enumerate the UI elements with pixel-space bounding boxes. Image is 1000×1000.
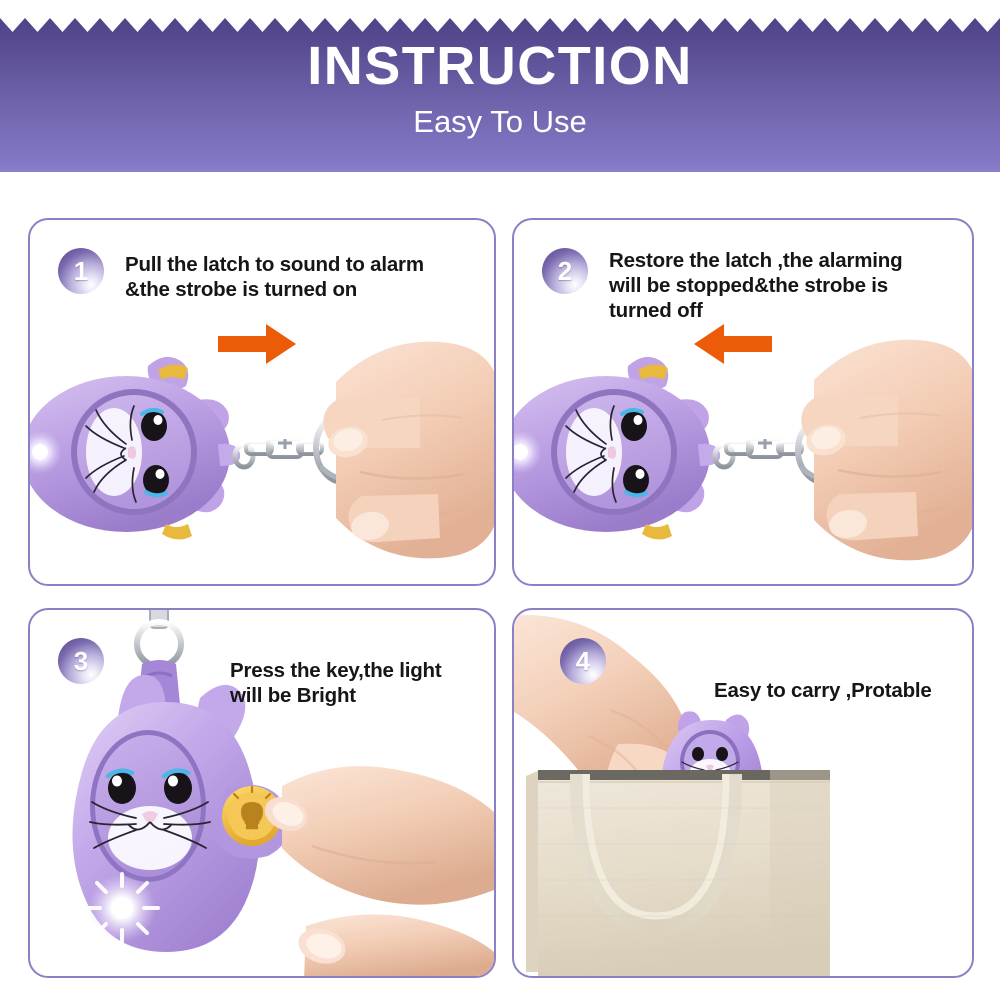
caption-line: Restore the latch ,the alarming — [609, 248, 959, 273]
caption-line: Press the key,the light — [230, 658, 480, 683]
arrow-left-icon — [694, 324, 772, 369]
caption-line: Pull the latch to sound to alarm — [125, 252, 475, 277]
page-subtitle: Easy To Use — [0, 103, 1000, 141]
caption-line: will be stopped&the strobe is — [609, 273, 959, 298]
hand-graphic — [260, 766, 494, 905]
caption-line: &the strobe is turned on — [125, 277, 475, 302]
step-caption-3: Press the key,the light will be Bright — [230, 658, 480, 708]
caption-line: Easy to carry ,Protable — [714, 678, 974, 703]
instruction-panel-1: 1 Pull the latch to sound to alarm &the … — [28, 218, 496, 586]
arrow-right-icon — [218, 324, 296, 369]
header-zigzag-edge-icon — [0, 0, 1000, 36]
step-number-badge-2: 2 — [542, 248, 588, 294]
step-caption-2: Restore the latch ,the alarming will be … — [609, 248, 959, 323]
caption-line: turned off — [609, 298, 959, 323]
hand-graphic — [323, 342, 494, 559]
hand-graphic — [801, 340, 972, 561]
step-number-badge-3: 3 — [58, 638, 104, 684]
instruction-panel-4: 4 Easy to carry ,Protable — [512, 608, 974, 978]
caption-line: will be Bright — [230, 683, 480, 708]
step-caption-4: Easy to carry ,Protable — [714, 678, 974, 703]
instruction-panel-3: 3 Press the key,the light will be Bright — [28, 608, 496, 978]
page-header: INSTRUCTION Easy To Use — [0, 0, 1000, 172]
hand-graphic-lower — [294, 914, 494, 976]
instruction-panel-2: 2 Restore the latch ,the alarming will b… — [512, 218, 974, 586]
step-number-badge-4: 4 — [560, 638, 606, 684]
page-title: INSTRUCTION — [0, 36, 1000, 96]
step-number-badge-1: 1 — [58, 248, 104, 294]
step-caption-1: Pull the latch to sound to alarm &the st… — [125, 252, 475, 302]
